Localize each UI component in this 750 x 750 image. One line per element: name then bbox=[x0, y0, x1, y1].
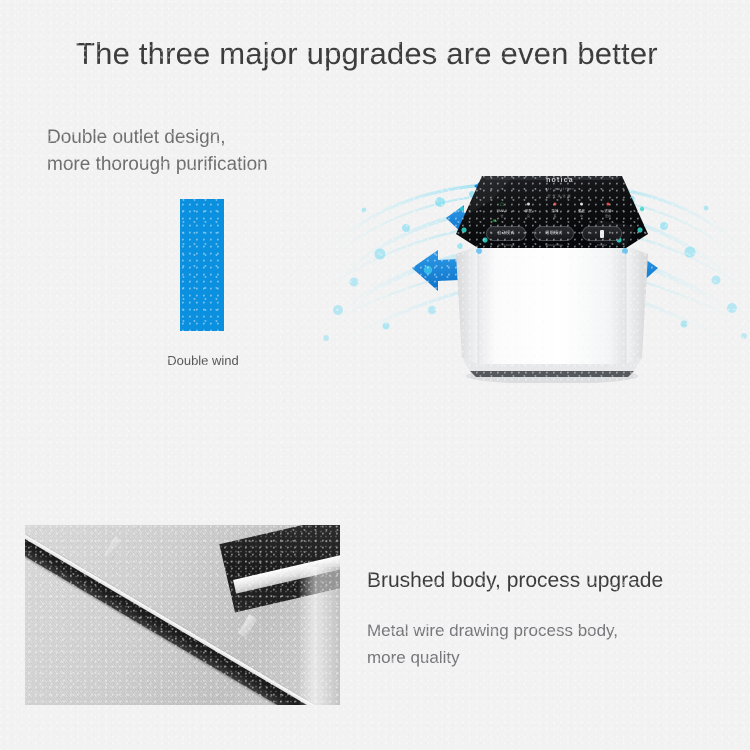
outlet-heading-line1: Double outlet design, bbox=[47, 124, 268, 151]
body-glow-left bbox=[476, 248, 482, 254]
brushed-body-subtitle-line1: Metal wire drawing process body, bbox=[367, 617, 618, 644]
brushed-body-photo bbox=[25, 525, 340, 705]
device-body-front-face bbox=[478, 246, 626, 364]
double-wind-caption: Double wind bbox=[158, 353, 248, 368]
photo-grain bbox=[25, 525, 340, 705]
double-wind-bar bbox=[180, 199, 224, 331]
airflow-bubble-accent-left bbox=[424, 266, 432, 274]
brushed-body-title: Brushed body, process upgrade bbox=[367, 569, 663, 593]
outlet-heading-line2: more thorough purification bbox=[47, 151, 268, 178]
device-body-right-face bbox=[626, 246, 648, 364]
outlet-heading: Double outlet design, more thorough puri… bbox=[47, 124, 268, 178]
brushed-body-subtitle-line2: more quality bbox=[367, 644, 618, 671]
device-base-foot bbox=[470, 371, 634, 377]
body-glow-right bbox=[622, 248, 628, 254]
panel-top-edge bbox=[482, 176, 622, 180]
brushed-body-subtitle: Metal wire drawing process body, more qu… bbox=[367, 617, 618, 671]
air-purifier-device: notica air purifier 空气净化器 ⌂ PM2.5 优 ● 甲醛… bbox=[448, 168, 656, 383]
device-body-left-face bbox=[456, 246, 478, 364]
page-title: The three major upgrades are even better bbox=[76, 36, 658, 72]
